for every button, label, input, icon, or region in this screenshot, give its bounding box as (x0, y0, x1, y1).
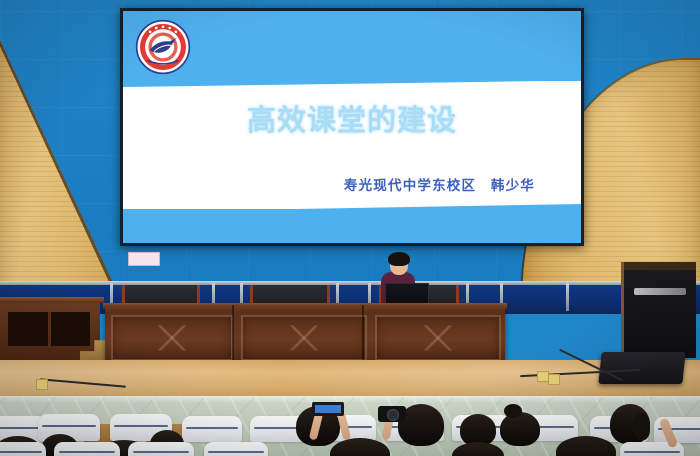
audience-hair-bun (504, 404, 522, 418)
slide-bottom-band (123, 209, 581, 243)
slide-title: 高效课堂的建设 (123, 97, 581, 139)
audience-area: 3 1 (0, 398, 700, 456)
audience-seat (0, 442, 46, 456)
seating-rail (0, 281, 700, 285)
podium-panel (375, 315, 501, 361)
wall-notice-paper (128, 252, 160, 266)
floor-tape-marker (36, 379, 48, 390)
podium-panel-diamond (256, 325, 351, 350)
audience-head (500, 412, 540, 446)
stage-piano (621, 262, 696, 358)
stage-piano-lid (624, 262, 696, 270)
podium-seam (232, 305, 234, 363)
school-crest-emblem (135, 19, 191, 75)
audience-seat (182, 416, 242, 442)
presenter-hair (388, 252, 410, 266)
audience-head (452, 442, 504, 456)
slide-subtitle: 寿光现代中学东校区 韩少华 (344, 174, 535, 194)
floor-tape-marker (548, 374, 560, 385)
audience-seat (204, 442, 268, 456)
seat-post (566, 283, 569, 311)
smartphone-screen (315, 405, 341, 413)
left-stage-cabinet-top (0, 297, 104, 303)
podium-table (105, 305, 505, 363)
audience-camera[interactable] (378, 406, 406, 422)
audience-seat (54, 442, 120, 456)
audience-smartphone[interactable] (312, 402, 344, 416)
stage-monitor-speaker (598, 352, 685, 384)
projection-screen: 高效课堂的建设 寿光现代中学东校区 韩少华 (123, 11, 581, 243)
podium-panel-diamond (126, 325, 218, 350)
projection-screen-frame: 高效课堂的建设 寿光现代中学东校区 韩少华 (120, 8, 584, 246)
podium-seam (362, 305, 364, 363)
auditorium-photo: 高效课堂的建设 寿光现代中学东校区 韩少华 (0, 0, 700, 456)
podium-panel (111, 315, 233, 361)
podium-panel-diamond (390, 325, 485, 350)
camera-lens (387, 409, 399, 421)
slide-top-band (123, 11, 581, 81)
stage-piano-keys (634, 288, 686, 295)
left-cabinet-divider (48, 312, 51, 346)
audience-seat (128, 442, 194, 456)
podium-panel (241, 315, 367, 361)
audience-ponytail (634, 414, 650, 440)
